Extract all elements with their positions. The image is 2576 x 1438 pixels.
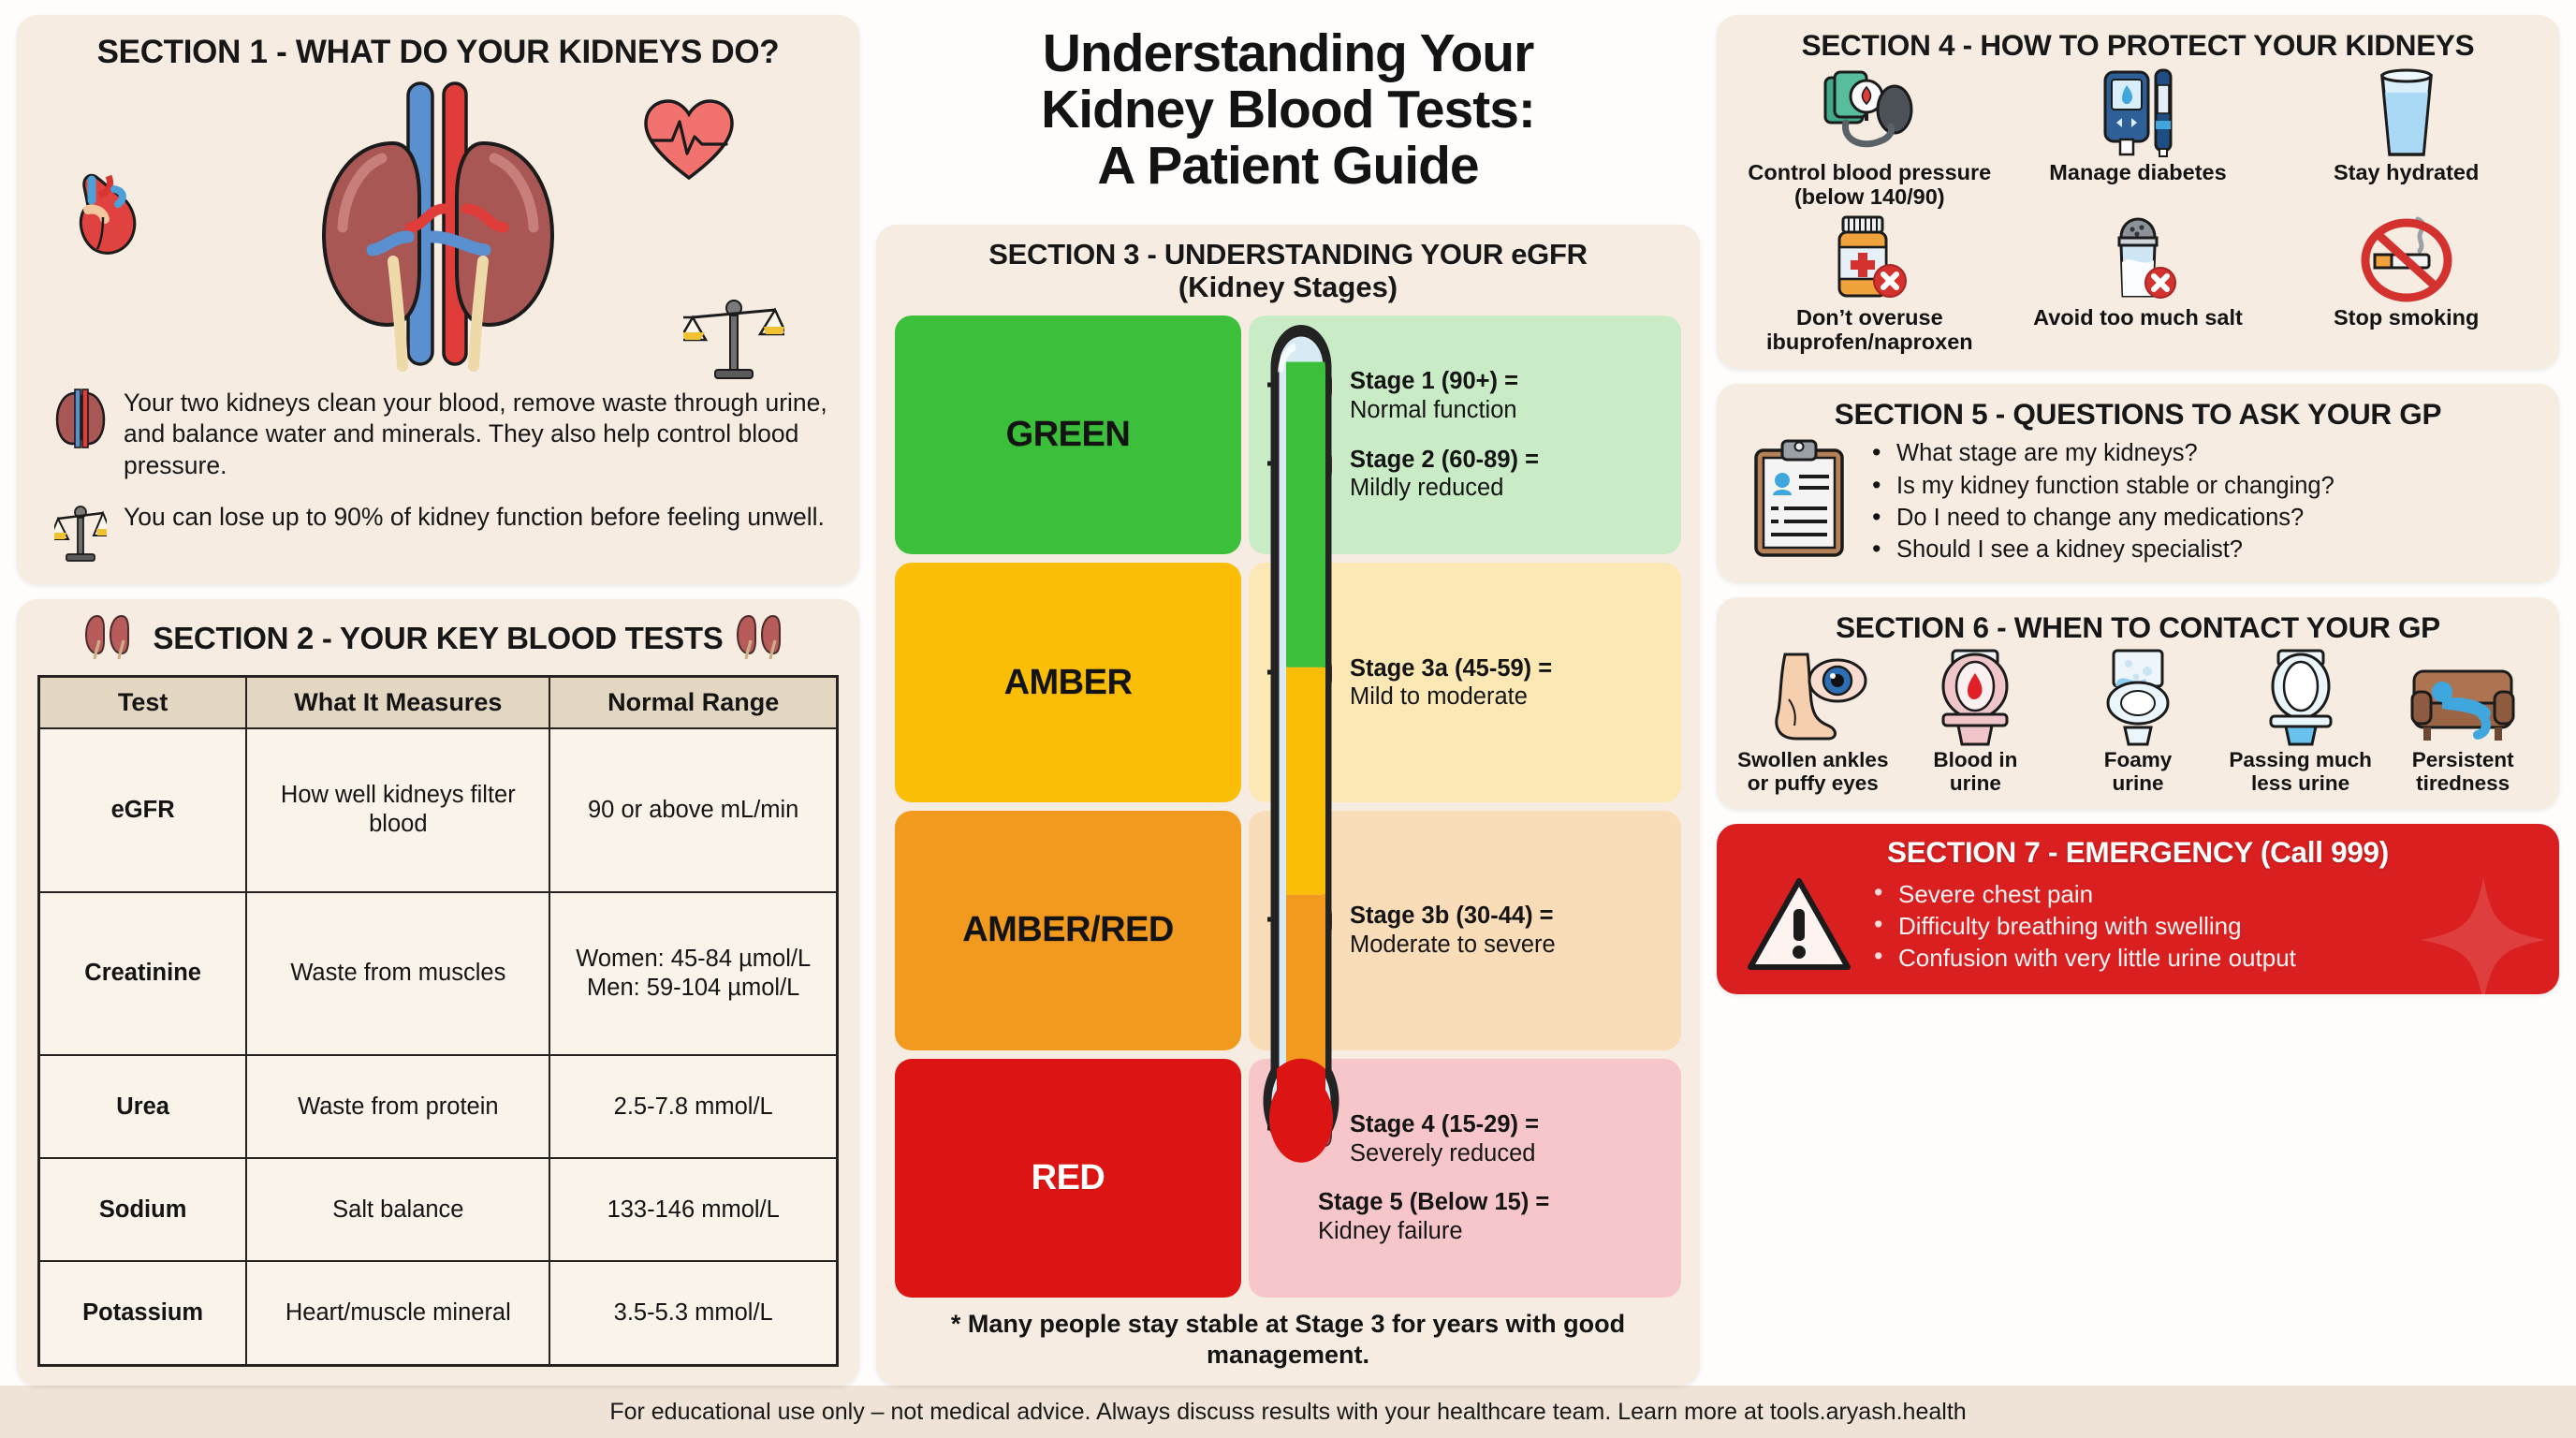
column-header-measures: What It Measures [246,677,549,728]
band-label-amber: AMBER [895,563,1241,802]
stage-entry: Stage 1 (90+) =Normal function [1310,367,1672,424]
toilet-foam-icon [2089,649,2187,746]
band-stage-panel: Stage 3b (30-44) =Moderate to severe [1249,811,1681,1050]
symptom-label: Blood inurine [1933,748,2017,795]
tip-label: Stop smoking [2334,305,2479,330]
section-3-heading: SECTION 3 - UNDERSTANDING YOUR eGFR [895,238,1681,271]
stage-bands: GREEN Stage 1 (90+) =Normal function Sta… [895,315,1681,1298]
gp-question-item: Do I need to change any medications? [1868,502,2334,534]
band-stage-panel: Stage 4 (15-29) =Severely reducedStage 5… [1249,1059,1681,1299]
symptom-label: Persistenttiredness [2412,748,2514,795]
section-4-heading: SECTION 4 - HOW TO PROTECT YOUR KIDNEYS [1735,28,2540,63]
cell-range: Women: 45-84 µmol/LMen: 59-104 µmol/L [549,892,837,1056]
tired-person-sofa-icon [2408,649,2517,746]
symptom-label: Swollen anklesor puffy eyes [1737,748,1888,795]
warning-triangle-icon [1745,873,1853,979]
toilet-blood-icon [1926,649,2024,746]
section-5-card: SECTION 5 - QUESTIONS TO ASK YOUR GP [1717,384,2559,582]
section-3-note: * Many people stay stable at Stage 3 for… [895,1309,1681,1371]
protection-tip: Don’t overuseibuprofen/naproxen [1735,213,2004,355]
section-3-card: SECTION 3 - UNDERSTANDING YOUR eGFR (Kid… [876,225,1700,1386]
section-1-facts: Your two kidneys clean your blood, remov… [41,384,835,564]
balance-scales-small-icon [54,502,107,564]
section-6-heading: SECTION 6 - WHEN TO CONTACT YOUR GP [1732,610,2544,645]
gp-question-item: Should I see a kidney specialist? [1868,534,2334,565]
stage-text: Stage 5 (Below 15) =Kidney failure [1318,1188,1549,1245]
balance-scales-icon [683,293,784,388]
band-label-red: RED [895,1059,1241,1299]
kidneys-small-icon [54,388,107,449]
fact-text: Your two kidneys clean your blood, remov… [124,388,829,481]
gp-questions-list: What stage are my kidneys?Is my kidney f… [1868,437,2334,565]
pill-bottle-no-icon [1822,213,1916,303]
table-row: SodiumSalt balance133-146 mmol/L [39,1158,838,1261]
toilet-low-output-icon [2252,649,2349,746]
blood-tests-table: Test What It Measures Normal Range eGFRH… [37,675,839,1367]
symptoms-grid: Swollen anklesor puffy eyes Blood inurin… [1732,649,2544,795]
symptom-label: Passing muchless urine [2229,748,2372,795]
symptom-item: Blood inurine [1895,649,2057,795]
band-label-green: GREEN [895,315,1241,555]
footer-disclaimer: For educational use only – not medical a… [0,1386,2576,1438]
band-label-amber-red: AMBER/RED [895,811,1241,1050]
fact-row: Your two kidneys clean your blood, remov… [54,388,829,481]
stage-entry: Stage 4 (15-29) =Severely reduced [1310,1110,1672,1167]
protection-tip: Avoid too much salt [2004,213,2273,355]
band-stage-panel: Stage 3a (45-59) =Mild to moderate [1249,563,1681,802]
tip-label: Manage diabetes [2049,160,2226,184]
cell-test: Urea [39,1055,247,1158]
protection-tip: Manage diabetes [2004,68,2273,210]
section-5-heading: SECTION 5 - QUESTIONS TO ASK YOUR GP [1737,397,2539,432]
fact-text: You can lose up to 90% of kidney functio… [124,502,825,533]
infographic-poster: SECTION 1 - WHAT DO YOUR KIDNEYS DO? [0,0,2576,1438]
cell-test: eGFR [39,728,247,892]
cell-test: Potassium [39,1261,247,1365]
table-row: PotassiumHeart/muscle mineral3.5-5.3 mmo… [39,1261,838,1365]
stage-entry: Stage 3b (30-44) =Moderate to severe [1310,902,1672,959]
water-glass-icon [2362,68,2452,158]
table-row: UreaWaste from protein2.5-7.8 mmol/L [39,1055,838,1158]
stage-band-row: AMBER/RED Stage 3b (30-44) =Moderate to … [895,811,1681,1050]
cell-range: 2.5-7.8 mmol/L [549,1055,837,1158]
emergency-item: Severe chest pain [1870,878,2296,910]
stage-text: Stage 3a (45-59) =Mild to moderate [1350,654,1552,712]
cell-range: 90 or above mL/min [549,728,837,892]
protection-tip: Stop smoking [2272,213,2540,355]
kidney-marker-icon [1310,903,1342,941]
stage-text: Stage 1 (90+) =Normal function [1350,367,1518,424]
stage-text: Stage 4 (15-29) =Severely reduced [1350,1110,1539,1167]
kidney-marker-icon [1310,448,1342,485]
tip-label: Avoid too much salt [2033,305,2243,330]
right-column: SECTION 4 - HOW TO PROTECT YOUR KIDNEYS … [1717,15,2559,1386]
emergency-item: Difficulty breathing with swelling [1870,910,2296,942]
protection-tip: Stay hydrated [2272,68,2540,210]
table-body: eGFRHow well kidneys filter blood90 or a… [39,728,838,1365]
kidney-pair-icon-left [84,612,140,664]
section-7-heading: SECTION 7 - EMERGENCY (Call 999) [1735,835,2540,870]
stage-entry: Stage 5 (Below 15) =Kidney failure [1310,1188,1672,1245]
kidneys-with-vessels-icon [270,78,607,382]
blood-pressure-monitor-icon [1818,68,1921,158]
kidney-marker-icon [1310,656,1342,694]
cell-range: 133-146 mmol/L [549,1158,837,1261]
cell-measures: How well kidneys filter blood [246,728,549,892]
symptom-item: Persistenttiredness [2381,649,2544,795]
cell-measures: Waste from protein [246,1055,549,1158]
symptom-item: Foamyurine [2056,649,2219,795]
tip-label: Don’t overuseibuprofen/naproxen [1766,305,1973,355]
emergency-list: Severe chest painDifficulty breathing wi… [1870,878,2296,975]
section-7-card: SECTION 7 - EMERGENCY (Call 999) Severe … [1717,824,2559,994]
title-line-2: Kidney Blood Tests: [880,82,1696,139]
cell-measures: Waste from muscles [246,892,549,1056]
section-1-heading: SECTION 1 - WHAT DO YOUR KIDNEYS DO? [41,34,835,71]
heart-anatomy-icon [71,169,150,263]
kidney-anatomy-illustration [41,75,835,384]
cell-test: Sodium [39,1158,247,1261]
band-stage-panel: Stage 1 (90+) =Normal function Stage 2 (… [1249,315,1681,555]
stage-band-row: RED Stage 4 (15-29) =Severely reducedSta… [895,1059,1681,1299]
symptom-item: Passing muchless urine [2219,649,2382,795]
symptom-label: Foamyurine [2104,748,2173,795]
section-2-header: SECTION 2 - YOUR KEY BLOOD TESTS [37,612,839,664]
section-4-card: SECTION 4 - HOW TO PROTECT YOUR KIDNEYS … [1717,15,2559,369]
table-row: CreatinineWaste from musclesWomen: 45-84… [39,892,838,1056]
middle-column: Understanding Your Kidney Blood Tests: A… [876,15,1700,1386]
column-header-test: Test [39,677,247,728]
swollen-ankle-eye-icon [1757,649,1869,746]
cell-measures: Heart/muscle mineral [246,1261,549,1365]
symptom-item: Swollen anklesor puffy eyes [1732,649,1895,795]
egfr-thermometer-chart: GREEN Stage 1 (90+) =Normal function Sta… [895,315,1681,1298]
tip-label: Control blood pressure(below 140/90) [1748,160,1991,210]
gp-question-item: Is my kidney function stable or changing… [1868,470,2334,502]
stage-entry: Stage 3a (45-59) =Mild to moderate [1310,654,1672,712]
page-title: Understanding Your Kidney Blood Tests: A… [876,15,1700,210]
tip-label: Stay hydrated [2334,160,2479,184]
kidney-marker-icon [1310,369,1342,406]
table-header-row: Test What It Measures Normal Range [39,677,838,728]
section-6-card: SECTION 6 - WHEN TO CONTACT YOUR GP Swol… [1717,597,2559,808]
stage-entry: Stage 2 (60-89) =Mildly reduced [1310,446,1672,503]
cell-measures: Salt balance [246,1158,549,1261]
section-5-body: What stage are my kidneys?Is my kidney f… [1737,432,2539,567]
cell-range: 3.5-5.3 mmol/L [549,1261,837,1365]
sparkle-decoration-icon [2413,870,2554,994]
heartbeat-icon [640,95,738,190]
section-1-card: SECTION 1 - WHAT DO YOUR KIDNEYS DO? [17,15,859,584]
fact-row: You can lose up to 90% of kidney functio… [54,502,829,564]
title-line-1: Understanding Your [880,26,1696,82]
left-column: SECTION 1 - WHAT DO YOUR KIDNEYS DO? [17,15,859,1386]
cell-test: Creatinine [39,892,247,1056]
kidney-marker-icon [1310,1112,1342,1150]
protection-tips-grid: Control blood pressure(below 140/90) Man… [1735,68,2540,354]
salt-shaker-no-icon [2093,213,2183,303]
emergency-item: Confusion with very little urine output [1870,942,2296,974]
no-smoking-icon [2360,213,2453,303]
stage-text: Stage 3b (30-44) =Moderate to severe [1350,902,1556,959]
section-2-card: SECTION 2 - YOUR KEY BLOOD TESTS [17,599,859,1386]
table-row: eGFRHow well kidneys filter blood90 or a… [39,728,838,892]
gp-question-item: What stage are my kidneys? [1868,437,2334,469]
glucose-meter-icon [2086,68,2189,158]
clipboard-icon [1749,437,1850,565]
section-2-heading: SECTION 2 - YOUR KEY BLOOD TESTS [154,621,724,656]
section-3-subheading: (Kidney Stages) [895,271,1681,304]
protection-tip: Control blood pressure(below 140/90) [1735,68,2004,210]
stage-band-row: GREEN Stage 1 (90+) =Normal function Sta… [895,315,1681,555]
column-header-range: Normal Range [549,677,837,728]
stage-band-row: AMBER Stage 3a (45-59) =Mild to moderate [895,563,1681,802]
kidney-pair-icon-right [736,612,792,664]
title-line-3: A Patient Guide [880,139,1696,195]
stage-text: Stage 2 (60-89) =Mildly reduced [1350,446,1539,503]
columns-container: SECTION 1 - WHAT DO YOUR KIDNEYS DO? [0,0,2576,1386]
